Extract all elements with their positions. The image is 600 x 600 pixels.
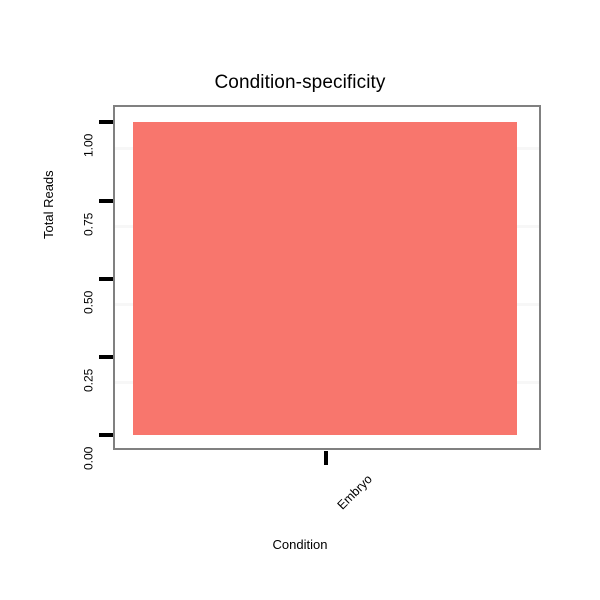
chart-panel	[113, 105, 541, 450]
x-tick-label-0-text: Embryo	[335, 472, 375, 512]
chart-panel-inner	[115, 107, 539, 448]
chart-plot-area: Condition-specificity Total Reads 0.00 0…	[0, 0, 600, 600]
y-tick-mark-0	[99, 433, 113, 437]
y-tick-label-0-text: 0.00	[81, 447, 95, 470]
x-tick-label-0: Embryo	[335, 472, 375, 512]
y-tick-label-2-text: 0.50	[81, 291, 95, 314]
chart-title: Condition-specificity	[0, 72, 600, 94]
x-axis-title: Condition	[0, 537, 600, 552]
y-tick-label-1-text: 0.25	[81, 369, 95, 392]
y-tick-mark-4	[99, 120, 113, 124]
y-tick-label-4-text: 1.00	[81, 134, 95, 157]
y-axis-title: Total Reads	[41, 170, 56, 239]
y-tick-label-3-text: 0.75	[81, 213, 95, 236]
y-tick-mark-2	[99, 277, 113, 281]
x-tick-mark-0	[324, 451, 328, 465]
y-tick-mark-1	[99, 355, 113, 359]
y-tick-mark-3	[99, 199, 113, 203]
bar-embryo[interactable]	[133, 122, 517, 435]
